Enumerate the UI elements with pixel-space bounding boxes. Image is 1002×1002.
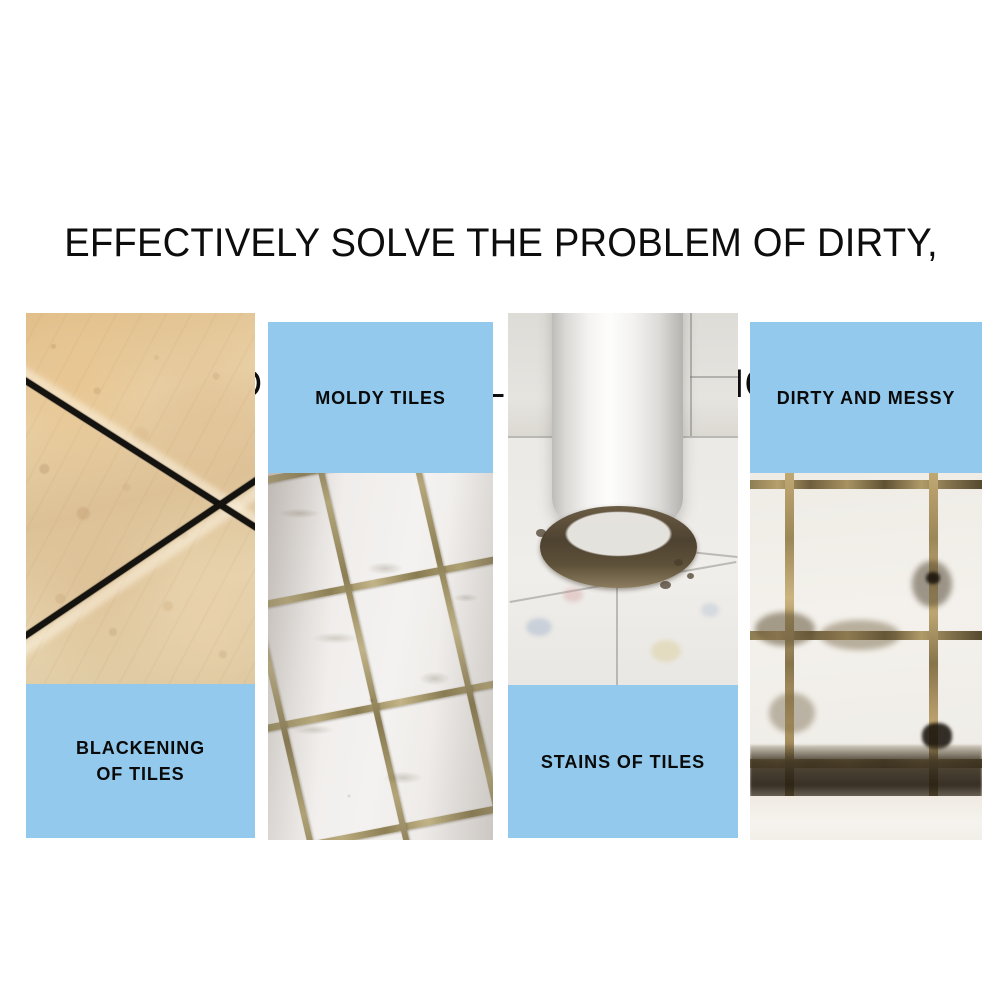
grime-speck <box>674 559 683 566</box>
grime-ring <box>540 506 696 588</box>
label-block-blackening-of-tiles: BLACKENING OF TILES <box>26 684 255 838</box>
label-block-moldy-tiles: MOLDY TILES <box>268 322 493 473</box>
panel-label: MOLDY TILES <box>315 385 446 411</box>
floor-pattern-motif <box>651 640 681 662</box>
wall-tile-seam <box>690 376 738 378</box>
photo-moldy-tiles <box>268 473 493 840</box>
lower-tile-edge <box>750 796 982 840</box>
photo-blackening-of-tiles <box>26 313 255 684</box>
headline-line-1: EFFECTIVELY SOLVE THE PROBLEM OF DIRTY, <box>23 220 980 267</box>
grime-speck <box>536 529 546 537</box>
label-block-stains-of-tiles: STAINS OF TILES <box>508 685 738 838</box>
white-pipe-base <box>552 313 683 536</box>
photo-shading <box>268 473 493 840</box>
panel-label: STAINS OF TILES <box>541 749 705 775</box>
panel-blackening-of-tiles: BLACKENING OF TILES <box>26 313 255 838</box>
black-mold-spot <box>926 572 940 584</box>
wall-tile-seam <box>690 313 692 436</box>
panel-label: DIRTY AND MESSY <box>777 385 956 411</box>
panel-dirty-and-messy: DIRTY AND MESSY <box>750 322 982 840</box>
grout-stain <box>769 693 815 733</box>
grime-speck <box>660 581 671 589</box>
panel-stains-of-tiles: STAINS OF TILES <box>508 313 738 838</box>
grout-stain <box>820 620 900 650</box>
photo-dirty-and-messy <box>750 473 982 840</box>
label-block-dirty-and-messy: DIRTY AND MESSY <box>750 322 982 473</box>
photo-stains-of-tiles <box>508 313 738 685</box>
panel-moldy-tiles: MOLDY TILES <box>268 322 493 840</box>
floor-tile-seam <box>616 573 618 685</box>
panel-label: BLACKENING OF TILES <box>76 735 205 787</box>
grout-stain <box>755 612 815 646</box>
